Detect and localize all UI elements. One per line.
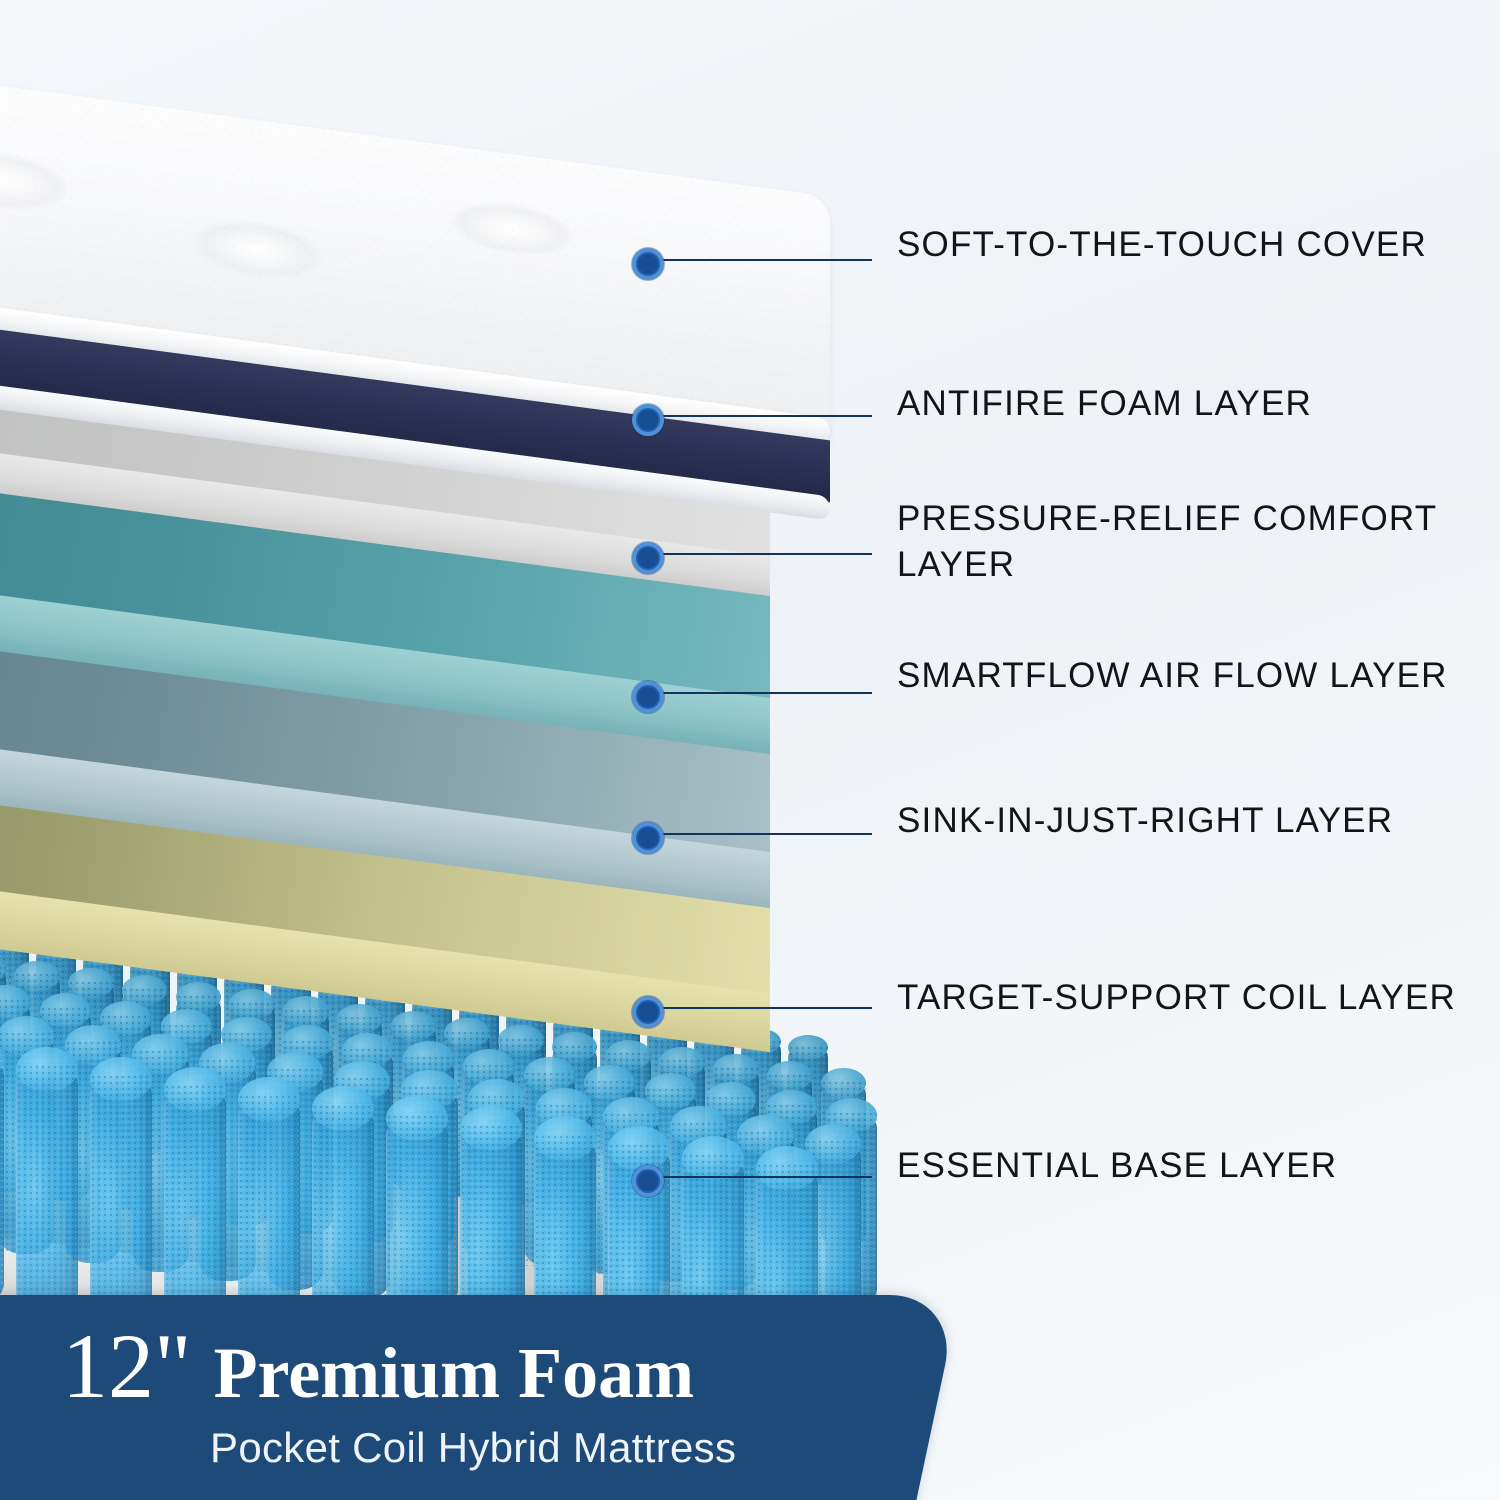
callout-marker-coil[interactable]	[632, 996, 664, 1028]
leader-line-antifire	[652, 415, 872, 417]
leader-line-airflow	[652, 692, 872, 694]
mattress-height-text: 12"	[62, 1323, 192, 1410]
callout-marker-airflow[interactable]	[632, 681, 664, 713]
callout-marker-comfort[interactable]	[632, 542, 664, 574]
leader-line-cover	[652, 259, 872, 261]
callout-label-cover: SOFT-TO-THE-TOUCH COVER	[897, 222, 1427, 268]
callout-marker-antifire[interactable]	[632, 404, 664, 436]
callout-marker-cover[interactable]	[632, 248, 664, 280]
callout-marker-sink[interactable]	[632, 822, 664, 854]
leader-line-comfort	[652, 553, 872, 555]
callout-marker-base[interactable]	[632, 1165, 664, 1197]
callout-label-coil: TARGET-SUPPORT COIL LAYER	[897, 975, 1456, 1021]
exploded-mattress-illustration	[0, 0, 900, 1310]
callout-label-antifire: ANTIFIRE FOAM LAYER	[897, 381, 1312, 427]
layer-slab-soft-touch-cover	[0, 55, 830, 385]
callout-label-sink: SINK-IN-JUST-RIGHT LAYER	[897, 798, 1393, 844]
pocket-coil	[16, 1064, 78, 1314]
infographic-canvas: SOFT-TO-THE-TOUCH COVERANTIFIRE FOAM LAY…	[0, 0, 1500, 1500]
callout-label-base: ESSENTIAL BASE LAYER	[897, 1143, 1337, 1189]
leader-line-sink	[652, 833, 872, 835]
product-banner-content: 12" Premium Foam Pocket Coil Hybrid Matt…	[0, 1295, 960, 1500]
product-headline: Premium Foam	[214, 1337, 695, 1409]
product-subheadline: Pocket Coil Hybrid Mattress	[210, 1424, 960, 1472]
pocket-coil	[0, 1055, 4, 1305]
pocket-coil	[90, 1074, 152, 1324]
callout-label-comfort: PRESSURE-RELIEF COMFORT LAYER	[897, 496, 1437, 588]
leader-line-coil	[652, 1007, 872, 1009]
leader-line-base	[652, 1176, 872, 1178]
callout-label-airflow: SMARTFLOW AIR FLOW LAYER	[897, 653, 1448, 699]
